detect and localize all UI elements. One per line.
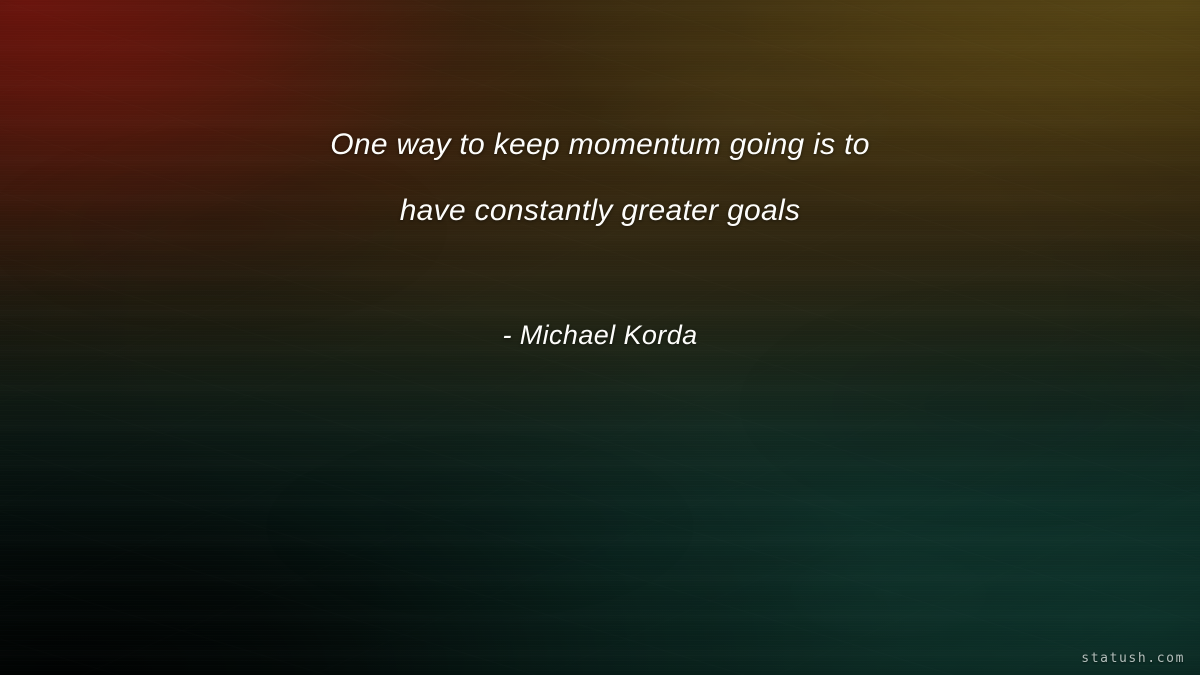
card-content: One way to keep momentum going is to hav… <box>0 0 1200 675</box>
quote-line-2: have constantly greater goals <box>0 178 1200 244</box>
quote-card: One way to keep momentum going is to hav… <box>0 0 1200 675</box>
quote-line-1: One way to keep momentum going is to <box>0 112 1200 178</box>
watermark-statush: statush.com <box>1081 651 1185 666</box>
quote-text: One way to keep momentum going is to hav… <box>0 112 1200 244</box>
quote-attribution: - Michael Korda <box>0 316 1200 354</box>
